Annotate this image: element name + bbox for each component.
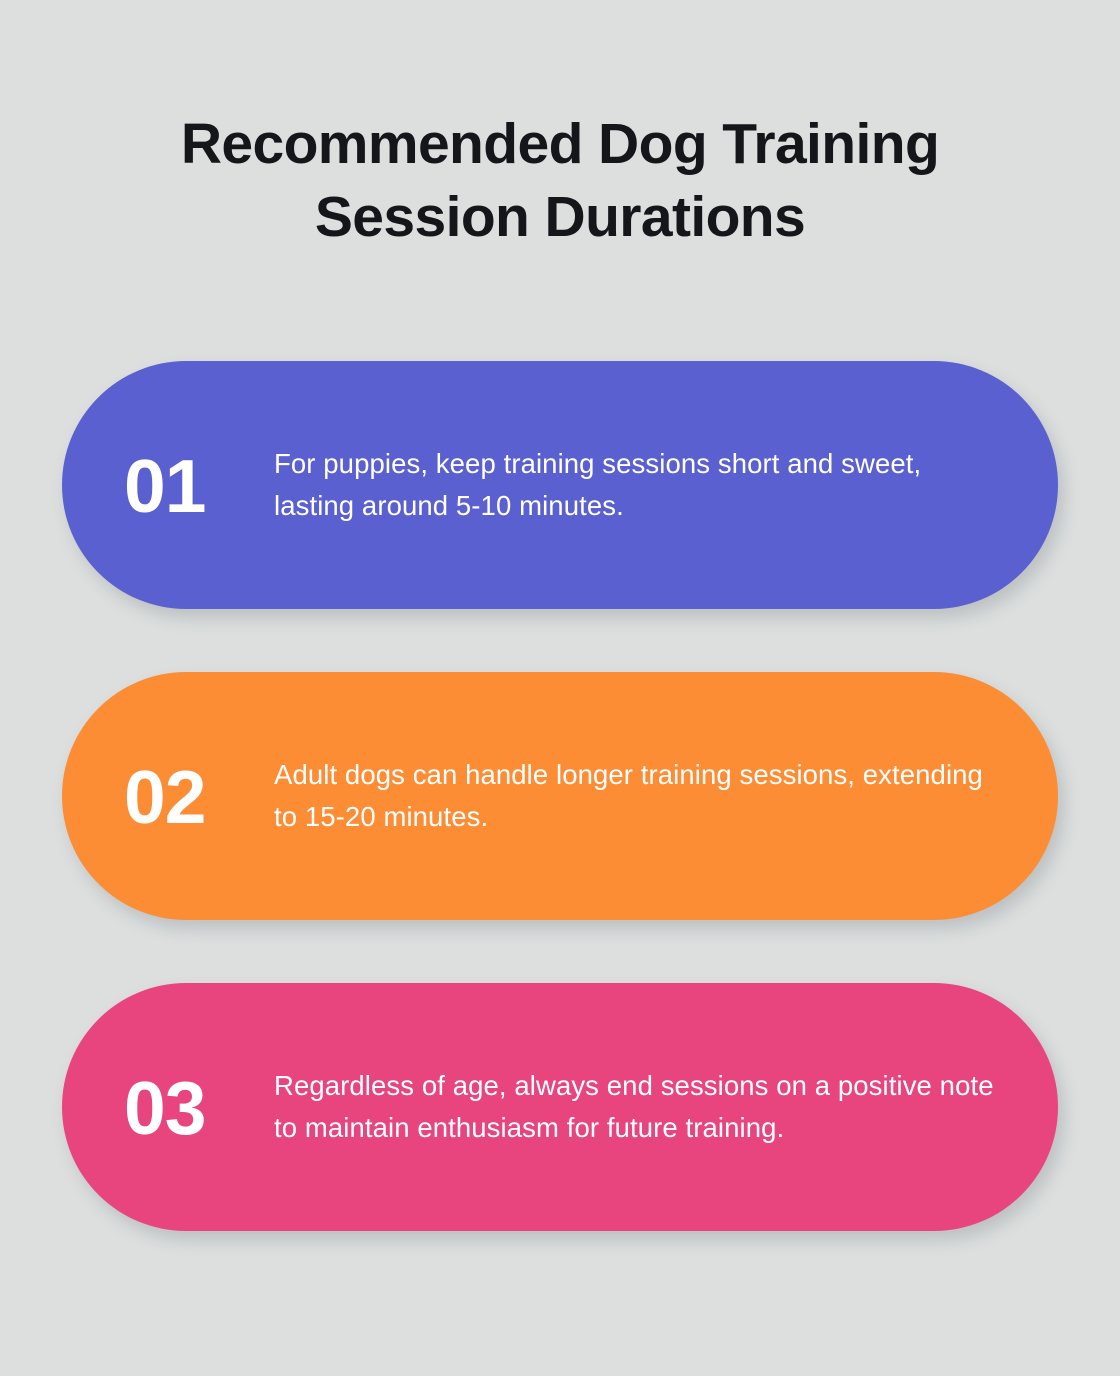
page-title-line-2: Session Durations xyxy=(60,181,1060,254)
list-item: 01 For puppies, keep training sessions s… xyxy=(62,361,1058,609)
page-title-line-1: Recommended Dog Training xyxy=(60,108,1060,181)
card-text: For puppies, keep training sessions shor… xyxy=(274,443,1002,527)
card-number: 02 xyxy=(124,757,274,835)
infographic-root: Recommended Dog Training Session Duratio… xyxy=(0,0,1120,1376)
page-title: Recommended Dog Training Session Duratio… xyxy=(60,108,1060,254)
card-text: Regardless of age, always end sessions o… xyxy=(274,1065,1002,1149)
list-item: 03 Regardless of age, always end session… xyxy=(62,983,1058,1231)
list-item: 02 Adult dogs can handle longer training… xyxy=(62,672,1058,920)
card-number: 01 xyxy=(124,446,274,524)
card-number: 03 xyxy=(124,1068,274,1146)
card-text: Adult dogs can handle longer training se… xyxy=(274,754,1002,838)
card-list: 01 For puppies, keep training sessions s… xyxy=(62,361,1058,1231)
